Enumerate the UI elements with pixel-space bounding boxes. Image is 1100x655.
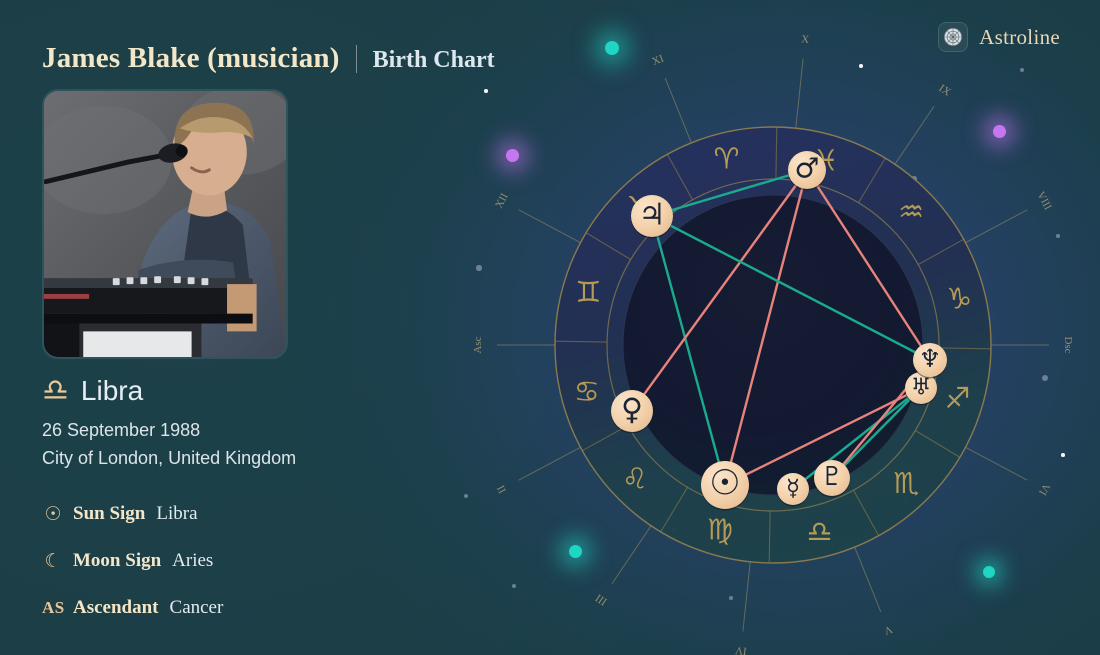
- zodiac-glyph-gemini: ♊: [575, 275, 601, 309]
- planet-glyph-neptune: ♆: [919, 344, 941, 373]
- planet-glyph-mercury: ☿: [786, 475, 800, 501]
- planet-glyph-venus: ♀: [621, 392, 643, 427]
- house-label-asc: Asc: [472, 336, 484, 353]
- planet-glyph-mars: ♂: [794, 152, 819, 185]
- aspect-area-disc: [623, 195, 923, 495]
- zodiac-glyph-cancer: ♋: [574, 374, 600, 408]
- zodiac-glyph-aquarius: ♒: [898, 195, 924, 229]
- planet-neptune[interactable]: ♆: [913, 343, 947, 379]
- house-label-ii: II: [495, 483, 509, 495]
- zodiac-glyph-scorpio: ♏: [893, 466, 919, 500]
- zodiac-glyph-virgo: ♍: [707, 513, 733, 547]
- house-label-ix: IX: [937, 82, 953, 98]
- house-label-iii: III: [593, 591, 609, 607]
- astrology-wheel[interactable]: AscIIIIIIVVVIDscVIIIIXXXIXII♈♉♊♋♌♍♎♏♐♑♒♓…: [0, 0, 1100, 655]
- house-label-vi: VI: [1036, 481, 1052, 497]
- planet-venus[interactable]: ♀: [611, 390, 653, 434]
- planet-glyph-pluto: ♇: [820, 462, 843, 492]
- planet-jupiter[interactable]: ♃: [631, 195, 673, 239]
- house-label-iv: IV: [734, 644, 747, 655]
- zodiac-glyph-sagittarius: ♐: [945, 381, 971, 415]
- house-label-dsc: Dsc: [1062, 336, 1074, 353]
- birth-chart-page: James Blake (musician) Birth Chart Astro…: [0, 0, 1100, 655]
- planet-glyph-jupiter: ♃: [639, 197, 666, 232]
- zodiac-glyph-capricorn: ♑: [946, 282, 972, 316]
- house-label-x: X: [801, 33, 810, 46]
- planet-mercury[interactable]: ☿: [777, 473, 809, 507]
- zodiac-glyph-libra: ♎: [806, 514, 832, 548]
- house-label-xi: XI: [650, 52, 666, 68]
- zodiac-glyph-aries: ♈: [714, 142, 740, 176]
- planet-sun[interactable]: ☉: [701, 461, 749, 511]
- house-label-xii: XII: [493, 191, 511, 210]
- house-label-v: V: [882, 623, 894, 637]
- planet-mars[interactable]: ♂: [788, 151, 826, 191]
- planet-glyph-sun: ☉: [709, 464, 740, 504]
- planet-pluto[interactable]: ♇: [814, 460, 850, 498]
- zodiac-glyph-leo: ♌: [622, 461, 648, 495]
- house-label-viii: VIII: [1034, 190, 1054, 213]
